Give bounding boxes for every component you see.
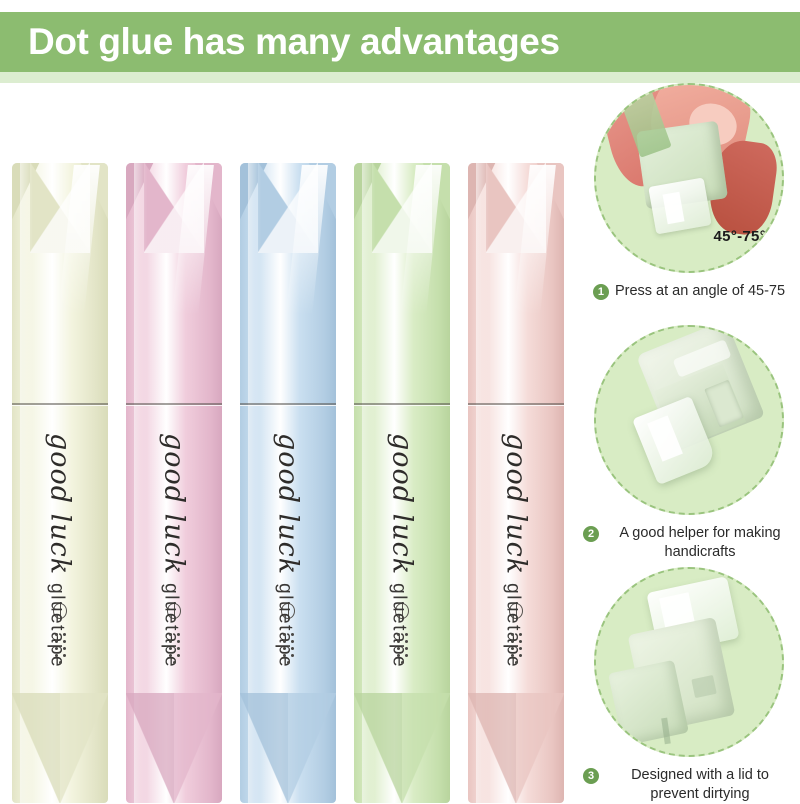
feature-steps-column: 45°-75°1Press at an angle of 45-752A goo…: [578, 83, 800, 800]
pen-ring-mark: [509, 603, 523, 619]
pen-ring-mark: [281, 603, 295, 619]
step-number-badge: 2: [583, 526, 599, 542]
product-lineup: good luckgluetapegood luckgluetapegood l…: [0, 83, 578, 800]
dispenser-lid-photo: [594, 567, 784, 757]
base-bevel-right: [288, 693, 336, 803]
cap-seam-line: [12, 403, 108, 405]
step-caption-text: A good helper for making handicrafts: [605, 524, 795, 562]
pen-script-text: good luck: [387, 433, 418, 575]
pen-script-text: good luck: [501, 433, 532, 575]
dispenser-tip-photo: [594, 325, 784, 515]
step-number-badge: 3: [583, 768, 599, 784]
base-bevel-right: [60, 693, 108, 803]
cap-seam-line: [354, 403, 450, 405]
angle-label: 45°-75°: [714, 228, 766, 245]
pen-dot-pattern: [163, 633, 185, 668]
ivory-pen: good luckgluetape: [12, 163, 108, 803]
pink-pen: good luckgluetape: [126, 163, 222, 803]
pen-script-text: good luck: [45, 433, 76, 575]
pen-dot-pattern: [391, 633, 413, 668]
base-bevel-left: [354, 693, 402, 803]
step-number-badge: 1: [593, 284, 609, 300]
header-underband: [0, 72, 800, 83]
peach-pink-pen: good luckgluetape: [468, 163, 564, 803]
photo-content: [596, 327, 782, 513]
cap-seam-line: [240, 403, 336, 405]
step-caption: 2A good helper for making handicrafts: [578, 524, 800, 562]
base-bevel-left: [240, 693, 288, 803]
cap-seam-line: [468, 403, 564, 405]
base-bevel-right: [174, 693, 222, 803]
step-caption: 3Designed with a lid to prevent dirtying: [578, 766, 800, 804]
base-bevel-right: [402, 693, 450, 803]
hand-pressing-dispenser-photo: 45°-75°: [594, 83, 784, 273]
base-bevel-right: [516, 693, 564, 803]
pen-ring-mark: [395, 603, 409, 619]
pen-script-text: good luck: [159, 433, 190, 575]
base-bevel-left: [126, 693, 174, 803]
feature-step: 2A good helper for making handicrafts: [578, 325, 800, 562]
feature-step: 45°-75°1Press at an angle of 45-75: [578, 83, 800, 301]
pen-dot-pattern: [49, 633, 71, 668]
green-pen: good luckgluetape: [354, 163, 450, 803]
pen-dot-pattern: [505, 633, 527, 668]
pen-ring-mark: [53, 603, 67, 619]
step-caption: 1Press at an angle of 45-75: [578, 282, 800, 301]
pen-dot-pattern: [277, 633, 299, 668]
feature-step: 3Designed with a lid to prevent dirtying: [578, 567, 800, 804]
pen-script-text: good luck: [273, 433, 304, 575]
cap-seam-line: [126, 403, 222, 405]
step-caption-text: Press at an angle of 45-75: [615, 282, 785, 301]
photo-content: [596, 569, 782, 755]
base-bevel-left: [12, 693, 60, 803]
step-caption-text: Designed with a lid to prevent dirtying: [605, 766, 795, 804]
base-bevel-left: [468, 693, 516, 803]
page-title: Dot glue has many advantages: [28, 14, 560, 72]
pen-ring-mark: [167, 603, 181, 619]
blue-pen: good luckgluetape: [240, 163, 336, 803]
